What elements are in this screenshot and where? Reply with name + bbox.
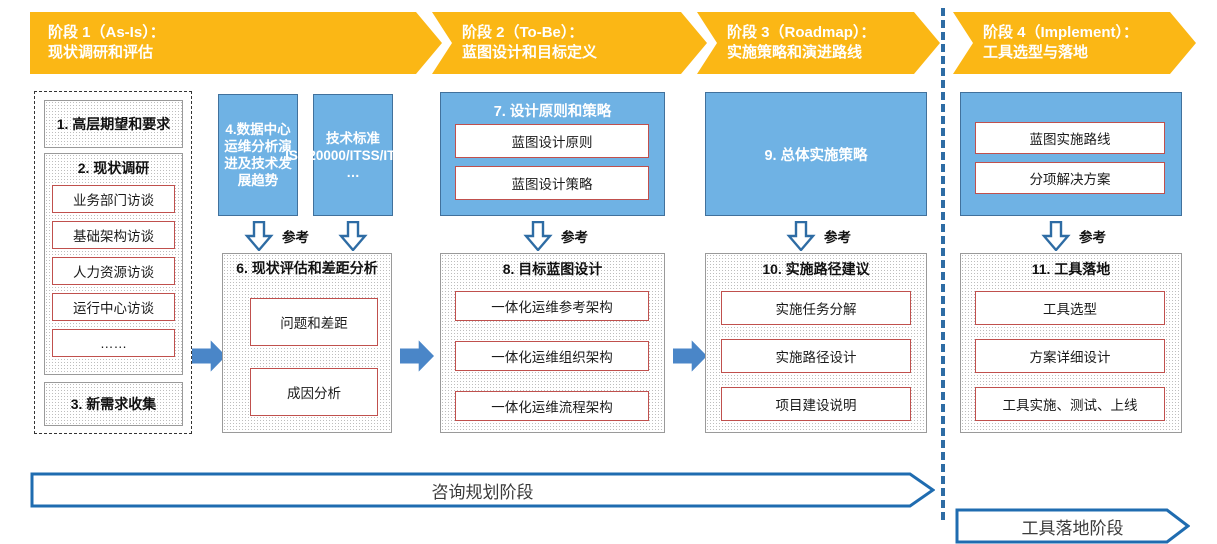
phase-2-line1: 阶段 2（To-Be）： xyxy=(462,23,673,43)
item-label: 基础架构访谈 xyxy=(73,225,154,245)
reference-label-col2: 参考 xyxy=(282,224,309,248)
phase-banner-4: 阶段 4（Implement）： 工具选型与落地 xyxy=(953,12,1196,74)
phase-3-line1: 阶段 3（Roadmap）： xyxy=(727,23,906,43)
list-item[interactable]: 分项解决方案 xyxy=(975,162,1165,194)
phase-4-line1: 阶段 4（Implement）： xyxy=(983,23,1162,43)
phase-group-separator xyxy=(941,8,945,520)
reference-text: 参考 xyxy=(1079,226,1106,246)
list-item[interactable]: 问题和差距 xyxy=(250,298,378,346)
item-label: 蓝图设计原则 xyxy=(512,131,593,151)
phase-banner-3: 阶段 3（Roadmap）： 实施策略和演进路线 xyxy=(697,12,940,74)
phase-1-line1: 阶段 1（As-Is）： xyxy=(48,23,408,43)
flow-arrow-right-3 xyxy=(673,339,707,373)
footer-right-label: 工具落地阶段 xyxy=(1022,514,1124,539)
block-8-title: 8. 目标蓝图设计 xyxy=(449,259,656,279)
down-arrow-icon xyxy=(523,221,553,256)
item-label: 实施路径设计 xyxy=(776,346,857,366)
tech-standards-label: 技术标准ISO20000/ITSS/ITIL… … xyxy=(285,130,421,181)
block-9-overall-strategy: 9. 总体实施策略 xyxy=(705,92,927,216)
list-item[interactable]: 一体化运维组织架构 xyxy=(455,341,649,371)
item-label: 工具选型 xyxy=(1043,298,1097,318)
phase-banner-2: 阶段 2（To-Be）： 蓝图设计和目标定义 xyxy=(432,12,707,74)
item-label: 分项解决方案 xyxy=(1030,168,1111,188)
block-2-title: 2. 现状调研 xyxy=(51,158,176,178)
list-item[interactable]: 工具实施、测试、上线 xyxy=(975,387,1165,421)
reference-text: 参考 xyxy=(824,226,851,246)
item-label: 工具实施、测试、上线 xyxy=(1003,394,1138,414)
list-item[interactable]: 项目建设说明 xyxy=(721,387,911,421)
item-label: 蓝图设计策略 xyxy=(512,173,593,193)
phase-1-line2: 现状调研和评估 xyxy=(48,43,408,63)
reference-text: 参考 xyxy=(282,226,309,246)
list-item[interactable]: …… xyxy=(52,329,175,357)
block-6-title: 6. 现状评估和差距分析 xyxy=(231,259,383,277)
phase-3-line2: 实施策略和演进路线 xyxy=(727,43,906,63)
reference-text: 参考 xyxy=(561,226,588,246)
list-item[interactable]: 实施路径设计 xyxy=(721,339,911,373)
down-arrow-icon xyxy=(244,221,274,256)
item-label: 项目建设说明 xyxy=(776,394,857,414)
block-3-label: 3. 新需求收集 xyxy=(71,394,157,414)
block-7-title: 7. 设计原则和策略 xyxy=(443,100,662,121)
list-item[interactable]: 蓝图设计原则 xyxy=(455,124,649,158)
footer-banner-consulting: 咨询规划阶段 xyxy=(30,472,935,508)
item-label: 实施任务分解 xyxy=(776,298,857,318)
item-label: 业务部门访谈 xyxy=(73,189,154,209)
down-arrow-icon xyxy=(338,221,368,256)
list-item[interactable]: 蓝图设计策略 xyxy=(455,166,649,200)
reference-label-col4: 参考 xyxy=(824,224,851,248)
list-item[interactable]: 实施任务分解 xyxy=(721,291,911,325)
block-4-label: 4.数据中心运维分析演进及技术发展趋势 xyxy=(221,121,295,189)
phase-banner-1: 阶段 1（As-Is）： 现状调研和评估 xyxy=(30,12,442,74)
down-arrow-icon xyxy=(786,221,816,256)
item-label: 方案详细设计 xyxy=(1030,346,1111,366)
list-item[interactable]: 工具选型 xyxy=(975,291,1165,325)
list-item[interactable]: 成因分析 xyxy=(250,368,378,416)
flow-arrow-right-2 xyxy=(400,339,434,373)
item-label: 一体化运维流程架构 xyxy=(491,396,613,416)
item-label: 运行中心访谈 xyxy=(73,297,154,317)
block-implementation-tools-panel xyxy=(960,92,1182,216)
list-item[interactable]: 业务部门访谈 xyxy=(52,185,175,213)
list-item[interactable]: 一体化运维参考架构 xyxy=(455,291,649,321)
list-item[interactable]: 一体化运维流程架构 xyxy=(455,391,649,421)
reference-label-col3: 参考 xyxy=(561,224,588,248)
block-3-new-requirements: 3. 新需求收集 xyxy=(44,382,183,426)
flow-arrow-right-1 xyxy=(192,339,226,373)
list-item[interactable]: 运行中心访谈 xyxy=(52,293,175,321)
down-arrow-icon xyxy=(1041,221,1071,256)
item-label: 人力资源访谈 xyxy=(73,261,154,281)
item-label: 问题和差距 xyxy=(280,312,348,332)
item-label: 蓝图实施路线 xyxy=(1030,128,1111,148)
block-1-label: 1. 高层期望和要求 xyxy=(57,114,171,134)
block-10-title: 10. 实施路径建议 xyxy=(714,259,918,279)
item-label: …… xyxy=(100,336,127,351)
item-label: 一体化运维参考架构 xyxy=(491,296,613,316)
block-1-high-level-expectations: 1. 高层期望和要求 xyxy=(44,100,183,148)
block-9-title: 9. 总体实施策略 xyxy=(706,144,926,165)
list-item[interactable]: 人力资源访谈 xyxy=(52,257,175,285)
footer-left-label: 咨询规划阶段 xyxy=(432,478,534,503)
item-label: 一体化运维组织架构 xyxy=(491,346,613,366)
reference-label-col5: 参考 xyxy=(1079,224,1106,248)
item-label: 成因分析 xyxy=(287,382,341,402)
block-11-title: 11. 工具落地 xyxy=(969,259,1173,279)
footer-banner-tooling: 工具落地阶段 xyxy=(955,508,1190,544)
block-tech-standards: 技术标准ISO20000/ITSS/ITIL… … xyxy=(313,94,393,216)
list-item[interactable]: 蓝图实施路线 xyxy=(975,122,1165,154)
phase-2-line2: 蓝图设计和目标定义 xyxy=(462,43,673,63)
list-item[interactable]: 方案详细设计 xyxy=(975,339,1165,373)
list-item[interactable]: 基础架构访谈 xyxy=(52,221,175,249)
phase-4-line2: 工具选型与落地 xyxy=(983,43,1162,63)
